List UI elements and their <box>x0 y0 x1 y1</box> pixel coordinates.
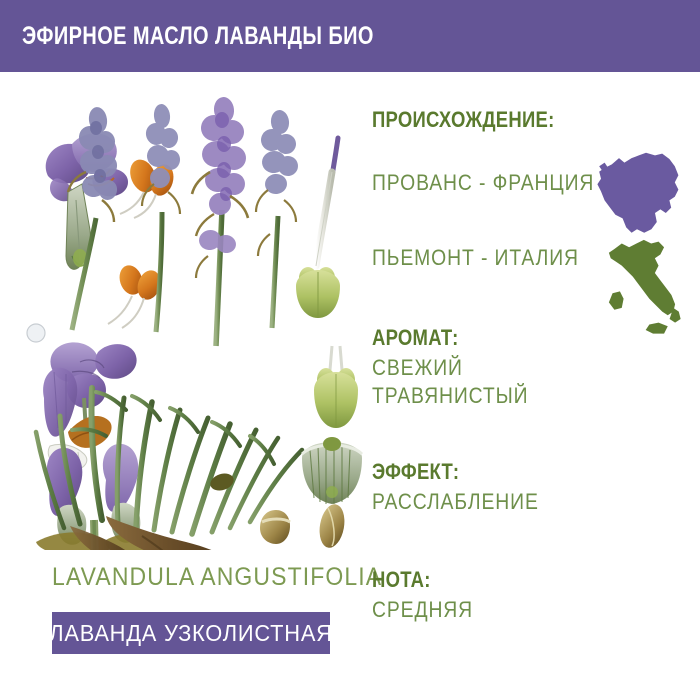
infographic-poster: ЭФИРНОЕ МАСЛО ЛАВАНДЫ БИО <box>0 0 700 700</box>
note-heading: НОТА: <box>372 568 431 591</box>
origin-heading: ПРОИСХОЖДЕНИЕ: <box>372 108 554 131</box>
detail-style-ovary <box>296 138 340 318</box>
detail-pollen-droplet <box>27 324 45 342</box>
aroma-heading: АРОМАТ: <box>372 326 459 349</box>
effect-value-relaxation: РАССЛАБЛЕНИЕ <box>372 489 539 516</box>
flower-spike-4 <box>256 109 300 328</box>
detail-calyx-cup <box>302 437 362 504</box>
italy-map <box>596 238 688 340</box>
lavender-botanical-illustration <box>10 80 365 550</box>
common-name-label: ЛАВАНДА УЗКОЛИСТНАЯ <box>59 612 323 654</box>
page-title: ЭФИРНОЕ МАСЛО ЛАВАНДЫ БИО <box>22 22 374 51</box>
detail-ovary-styles <box>314 346 358 428</box>
note-value-middle: СРЕДНЯЯ <box>372 597 473 624</box>
header-band: ЭФИРНОЕ МАСЛО ЛАВАНДЫ БИО <box>0 0 700 72</box>
aroma-value-herbaceous: ТРАВЯНИСТЫЙ <box>372 383 528 410</box>
origin-value-provence: ПРОВАНС - ФРАНЦИЯ <box>372 170 594 197</box>
common-name-badge: ЛАВАНДА УЗКОЛИСТНАЯ <box>52 612 330 654</box>
binomial-name: LAVANDULA ANGUSTIFOLIA <box>52 563 382 592</box>
france-map <box>592 150 682 240</box>
aroma-value-fresh: СВЕЖИЙ <box>372 355 463 382</box>
origin-value-piedmont: ПЬЕМОНТ - ИТАЛИЯ <box>372 245 579 272</box>
effect-heading: ЭФФЕКТ: <box>372 460 459 483</box>
flower-spike-3 <box>192 96 249 346</box>
